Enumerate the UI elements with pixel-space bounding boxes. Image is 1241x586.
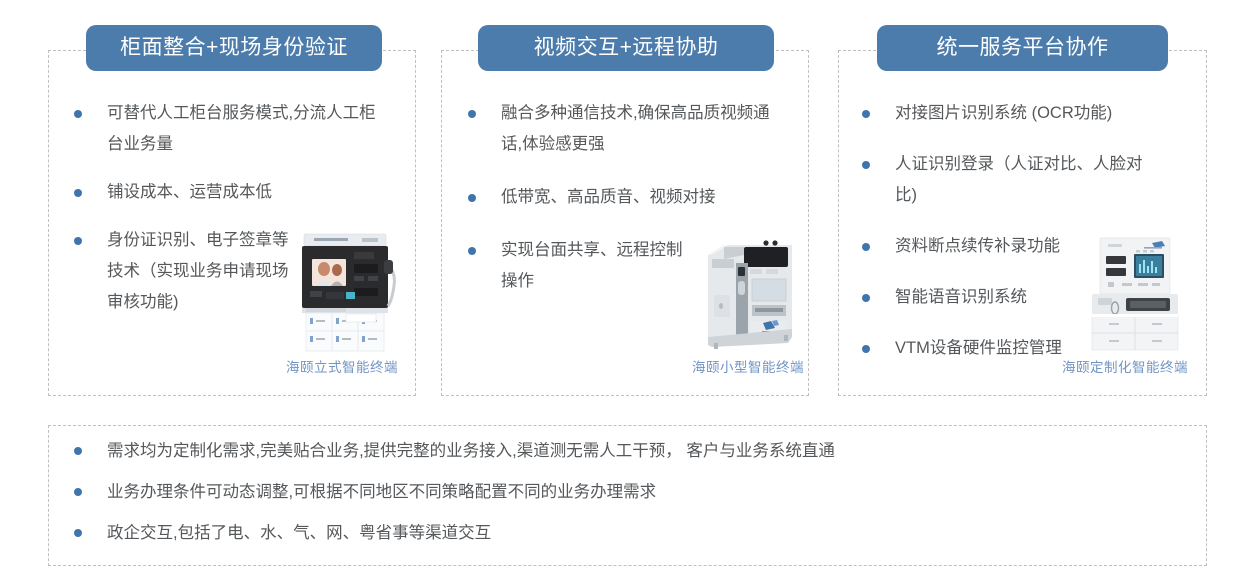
list-item-text: 可替代人工柜台服务模式,分流人工柜台业务量 (107, 104, 376, 153)
list-item-text: 融合多种通信技术,确保高品质视频通话,体验感更强 (501, 104, 770, 153)
bullet-dot-icon (74, 110, 82, 118)
list-item-text: 政企交互,包括了电、水、气、网、粤省事等渠道交互 (107, 524, 491, 542)
bullet-dot-icon (862, 110, 870, 118)
list-item: 身份证识别、电子签章等技术（实现业务申请现场审核功能) (74, 225, 292, 318)
list-item-text: 业务办理条件可动态调整,可根据不同地区不同策略配置不同的业务办理需求 (107, 483, 656, 501)
card-title-3: 统一服务平台协作 (877, 25, 1168, 71)
list-item-text: VTM设备硬件监控管理 (895, 339, 1062, 357)
summary-list: 需求均为定制化需求,完美贴合业务,提供完整的业务接入,渠道测无需人工干预， 客户… (74, 440, 1184, 563)
list-item: 业务办理条件可动态调整,可根据不同地区不同策略配置不同的业务办理需求 (74, 481, 1184, 503)
list-item: 铺设成本、运营成本低 (74, 177, 384, 208)
bullet-dot-icon (468, 110, 476, 118)
device-caption-1: 海颐立式智能终端 (286, 356, 398, 376)
card-title-2: 视频交互+远程协助 (478, 25, 774, 71)
list-item-text: 身份证识别、电子签章等技术（实现业务申请现场审核功能) (107, 231, 289, 311)
bullet-dot-icon (74, 189, 82, 197)
counter-terminal-icon (1078, 236, 1190, 354)
list-item: 需求均为定制化需求,完美贴合业务,提供完整的业务接入,渠道测无需人工干预， 客户… (74, 440, 1184, 462)
list-item-text: 智能语音识别系统 (895, 288, 1027, 306)
bullet-dot-icon (862, 161, 870, 169)
bullet-dot-icon (468, 247, 476, 255)
bullet-dot-icon (74, 488, 82, 496)
compact-terminal-icon (700, 233, 800, 353)
card-title-1: 柜面整合+现场身份验证 (86, 25, 382, 71)
list-item-text: 实现台面共享、远程控制操作 (501, 241, 683, 290)
list-item-text: 铺设成本、运营成本低 (107, 183, 272, 201)
list-item: 对接图片识别系统 (OCR功能) (862, 98, 1162, 129)
list-item: 可替代人工柜台服务模式,分流人工柜台业务量 (74, 98, 384, 160)
list-item-text: 人证识别登录（人证对比、人脸对比) (895, 155, 1143, 204)
list-item: 政企交互,包括了电、水、气、网、粤省事等渠道交互 (74, 522, 1184, 544)
device-caption-2: 海颐小型智能终端 (692, 356, 804, 376)
list-item-text: 低带宽、高品质音、视频对接 (501, 188, 716, 206)
list-item-text: 需求均为定制化需求,完美贴合业务,提供完整的业务接入,渠道测无需人工干预， 客户… (107, 442, 835, 460)
bullet-dot-icon (74, 447, 82, 455)
bullet-dot-icon (862, 294, 870, 302)
bullet-dot-icon (74, 529, 82, 537)
bullet-dot-icon (862, 345, 870, 353)
standing-kiosk-icon (292, 232, 404, 354)
list-item: VTM设备硬件监控管理 (862, 333, 1075, 364)
bullet-dot-icon (862, 243, 870, 251)
list-item: 人证识别登录（人证对比、人脸对比) (862, 149, 1162, 211)
bullet-dot-icon (468, 194, 476, 202)
list-item: 实现台面共享、远程控制操作 (468, 235, 691, 297)
list-item-text: 对接图片识别系统 (OCR功能) (895, 104, 1112, 122)
list-item-text: 资料断点续传补录功能 (895, 237, 1060, 255)
bullet-dot-icon (74, 237, 82, 245)
list-item: 融合多种通信技术,确保高品质视频通话,体验感更强 (468, 98, 778, 160)
device-caption-3: 海颐定制化智能终端 (1062, 356, 1188, 376)
list-item: 低带宽、高品质音、视频对接 (468, 182, 778, 213)
